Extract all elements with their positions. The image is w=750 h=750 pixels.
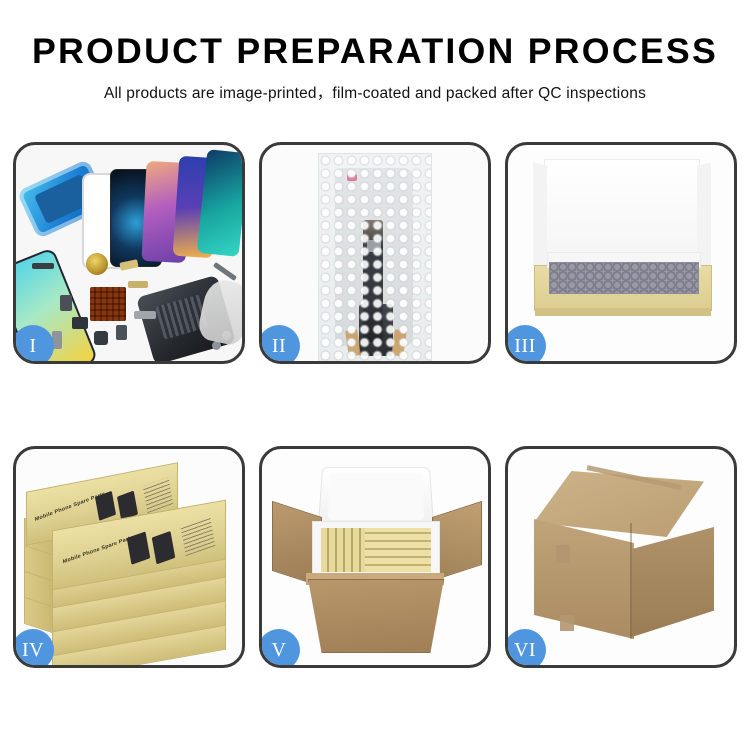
step-number-badge: IV: [13, 629, 54, 668]
packed-gold-boxes-graphic: [321, 528, 431, 572]
step-number-badge: VI: [505, 629, 546, 668]
process-step-panel-2: II: [259, 142, 491, 364]
spare-part-graphic: [32, 263, 54, 269]
step-2-illustration: [262, 145, 488, 361]
foam-lid-graphic: [318, 467, 435, 529]
box-screen-image: [95, 491, 116, 521]
process-step-panel-6: VI: [505, 446, 737, 668]
step-5-illustration: [262, 449, 488, 665]
step-number-badge: V: [259, 629, 300, 668]
tray-base-graphic: [535, 308, 711, 316]
gold-tray-graphic: [534, 265, 712, 311]
box-screen-image: [152, 531, 176, 564]
spare-part-graphic: [116, 325, 127, 340]
chip-grid-graphic: [90, 287, 126, 321]
page-subtitle: All products are image-printed，film-coat…: [0, 81, 750, 103]
carton-tape-graphic: [556, 545, 570, 563]
step-number-badge: I: [13, 325, 54, 364]
spare-part-graphic: [94, 331, 108, 345]
page-header: PRODUCT PREPARATION PROCESS All products…: [0, 0, 750, 103]
process-step-panel-1: I: [13, 142, 245, 364]
box-screen-image: [127, 531, 151, 564]
spare-part-graphic: [134, 311, 156, 319]
carton-edge-graphic: [630, 523, 632, 639]
bubble-padding-graphic: [549, 262, 699, 294]
process-step-panel-3: III: [505, 142, 737, 364]
bubble-texture-graphic: [319, 154, 431, 361]
step-6-illustration: [508, 449, 734, 665]
step-1-illustration: [16, 145, 242, 361]
gold-boxes-horizontal-graphic: [365, 528, 431, 572]
step-number-badge: III: [505, 325, 546, 364]
spare-part-graphic: [72, 317, 88, 329]
step-3-illustration: [508, 145, 734, 361]
coil-part-graphic: [86, 253, 108, 275]
process-step-panel-5: V: [259, 446, 491, 668]
step-4-illustration: Mobile Phone Spare Parts Mobile Phone Sp…: [16, 449, 242, 665]
gold-box-stack-graphic: Mobile Phone Spare Parts Mobile Phone Sp…: [24, 471, 234, 661]
gold-boxes-vertical-graphic: [321, 528, 365, 572]
process-step-panel-4: Mobile Phone Spare Parts Mobile Phone Sp…: [13, 446, 245, 668]
box-spec-lines: [181, 517, 216, 556]
carton-body-graphic: [308, 579, 444, 653]
spare-part-graphic: [60, 295, 72, 311]
carton-front-face-graphic: [534, 519, 634, 639]
box-label-text: Mobile Phone Spare Parts: [62, 535, 133, 565]
spare-part-graphic: [128, 281, 148, 288]
carton-side-face-graphic: [632, 527, 714, 637]
box-spec-lines: [143, 477, 173, 513]
page-title: PRODUCT PREPARATION PROCESS: [0, 34, 750, 71]
step-number-badge: II: [259, 325, 300, 364]
process-step-grid: I II: [13, 142, 737, 682]
bubble-wrap-bag-graphic: [318, 153, 432, 361]
carton-tape-graphic: [560, 615, 574, 631]
product-preparation-infographic: PRODUCT PREPARATION PROCESS All products…: [0, 0, 750, 750]
